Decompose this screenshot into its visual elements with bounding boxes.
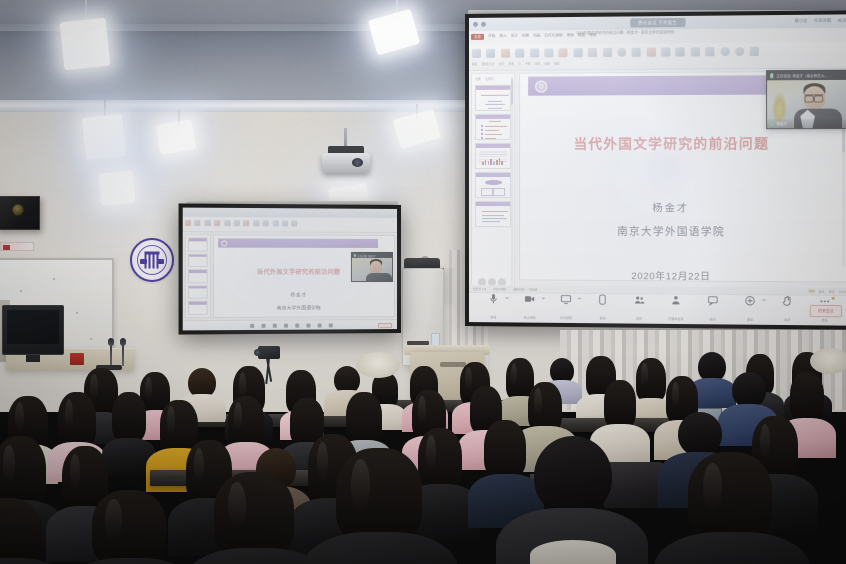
slide-date: 2020年12月22日 [528,267,816,283]
toolbar-mute-button[interactable]: 静音 [482,293,504,323]
designer-icon[interactable] [750,47,759,56]
designer-icon [282,220,288,226]
ribbon-cap-paragraph: 段落 [535,61,540,65]
toolbar-manage-label: 管理参会者 [668,316,683,320]
tab-view[interactable]: 视图 [578,33,585,39]
microphone-icon[interactable] [250,323,254,327]
slide-logo-icon [535,80,547,92]
tab-home[interactable]: 开始 [488,34,495,40]
side-thumb-4[interactable] [188,285,208,299]
layout-icon [204,220,210,226]
titlebar-minimize[interactable]: 最小化 [794,18,807,24]
wall-notice-sign [0,242,34,251]
side-slide-affiliation: 南京大学外国语学院 [218,304,378,312]
ribbon-caption-row: 粘贴 新建幻灯片 版式 重置 节 字体 段落 绘图 编辑 [472,59,846,66]
outline-tab[interactable]: 大纲 [475,77,481,81]
raise-hand-icon [782,295,793,306]
ribbon-cap-font: 字体 [525,62,530,66]
shape-icon [224,220,230,226]
shape-outline-icon[interactable] [661,47,670,56]
end-meeting-button[interactable]: 结束会议 [810,305,843,318]
lecture-hall-scene: 腾讯会议 学术报告 最小化 共享屏幕 关闭 当代外国文学研究的前沿问题 - 杨金… [0,0,846,564]
thumbnail-scrollbar[interactable] [511,77,513,287]
arrange-icon[interactable] [617,48,626,57]
slide-thumbnail-4[interactable] [475,172,511,198]
font-color-icon [214,220,220,226]
meeting-toolbar[interactable]: 静音 停止视频 共享屏幕 [469,292,846,326]
slide-thumbnail-3[interactable] [475,143,511,169]
microphone-stand-2 [122,344,124,366]
dictate-icon[interactable] [735,47,744,56]
side-current-slide: 当代外国文学研究的前沿问题 杨金才 南京大学外国语学院 2020年12月22日 … [213,234,395,318]
ceiling-light-2 [82,114,126,160]
speaker-jacket [366,273,392,282]
fur-hood [356,352,400,378]
lectern-slot [440,362,466,367]
ribbon-cap-paste: 粘贴 [472,62,477,66]
new-slide-icon [195,220,201,226]
status-comments[interactable]: 批注 [829,289,835,293]
teaching-desk-monitor [2,305,64,355]
ceiling-light-3 [98,170,135,205]
microphone-icon [488,293,499,304]
slide-thumbnail-pane[interactable]: 大纲 幻灯片 [471,73,515,291]
tab-insert[interactable]: 插入 [499,34,506,40]
microphone-icon [120,338,126,346]
toolbar-share-button[interactable]: 共享屏幕 [555,293,577,323]
wall-speaker-left [0,196,40,230]
slide-author: 杨金才 [528,199,816,215]
replace-icon[interactable] [705,47,714,56]
thumb-chart-icon [482,158,503,165]
layout-icon[interactable] [515,49,524,58]
toolbar-chat-button[interactable]: 聊天 [702,294,725,325]
ribbon-cap-newslide: 新建幻灯片 [482,62,495,66]
invite-icon [744,295,755,306]
find-icon [263,220,269,226]
thumb-pane-header[interactable]: 大纲 幻灯片 [475,77,511,81]
ribbon-cap-section: 节 [518,62,521,66]
participants-icon [633,294,644,305]
side-meeting-toolbar[interactable] [183,319,397,330]
slide-thumbnail-1[interactable] [475,85,511,111]
titlebar-controls[interactable]: 最小化 共享屏幕 关闭 [794,17,846,24]
side-slide-band [218,238,378,248]
titlebar-dot-icon [481,22,486,27]
side-screen-content: 当代外国文学研究的前沿问题 杨金才 南京大学外国语学院 2020年12月22日 … [183,208,397,331]
toolbar-participants-button[interactable]: 成员 [628,294,650,325]
share-screen-icon [560,293,571,304]
microphone-icon [770,73,773,78]
toolbar-record-label: 录制 [599,316,605,320]
toolbar-chat-label: 聊天 [710,317,716,321]
more-icon[interactable] [328,323,332,327]
toolbar-more-label: 更多 [822,318,828,322]
ribbon-cap-editing: 编辑 [554,61,559,65]
ribbon-cap-reset: 重置 [509,62,514,66]
participants-icon[interactable] [295,323,299,327]
tab-design[interactable]: 设计 [511,34,518,40]
arrange-icon [253,220,259,226]
toolbar-invite-label: 邀请 [747,317,753,321]
side-thumbnail-pane[interactable] [185,234,211,318]
chevron-down-icon[interactable] [505,297,509,299]
quick-styles-icon[interactable] [632,48,641,57]
side-ribbon-icons [185,220,298,227]
pip-speaking-label: 正在讲话: 杨金才（南京师范大... [776,73,827,78]
select-icon [272,220,278,226]
main-screen-content: 腾讯会议 学术报告 最小化 共享屏幕 关闭 当代外国文学研究的前沿问题 - 杨金… [469,14,846,325]
slide-thumbnail-2[interactable] [475,114,511,140]
dictate-icon [291,220,297,226]
university-emblem [130,238,174,282]
status-slide-count: 幻灯片 1/5 [473,287,486,291]
toolbar-manage-button[interactable]: 管理参会者 [665,294,688,325]
main-projection-screen[interactable]: 腾讯会议 学术报告 最小化 共享屏幕 关闭 当代外国文学研究的前沿问题 - 杨金… [465,10,846,330]
side-thumb-1[interactable] [188,237,208,251]
pip-participant-name: 杨金才 [776,121,787,126]
microphone-icon [354,254,356,257]
chevron-down-icon[interactable] [761,299,765,301]
select-icon[interactable] [720,47,729,56]
slides-tab[interactable]: 幻灯片 [486,77,494,81]
ribbon-cap-layout: 版式 [499,62,504,66]
projector-lens-icon [352,158,363,167]
titlebar-share[interactable]: 共享屏幕 [814,18,831,24]
new-slide-icon[interactable] [486,49,495,58]
chevron-down-icon[interactable] [577,297,581,299]
chevron-down-icon[interactable] [541,297,545,299]
tab-animations[interactable]: 动画 [533,33,540,39]
secondary-projection-screen[interactable]: 当代外国文学研究的前沿问题 杨金才 南京大学外国语学院 2020年12月22日 … [179,203,401,334]
ppt-tab-bar[interactable]: 文件 开始 插入 设计 切换 动画 幻灯片放映 审阅 视图 帮助 [471,33,597,40]
slide-affiliation: 南京大学外国语学院 [528,223,816,239]
find-icon[interactable] [691,47,700,56]
desk-red-box [70,353,84,365]
font-color-icon[interactable] [501,49,510,58]
fill-icon [243,220,249,226]
side-thumb-5[interactable] [188,301,208,315]
toolbar-raisehand-button[interactable]: 举手 [776,295,799,326]
camera-lens-icon [254,349,261,356]
side-thumb-2[interactable] [188,253,208,267]
pip-header: 正在讲话: 杨金才（南京师范大... [767,71,846,81]
toolbar-share-label: 共享屏幕 [560,315,572,319]
status-right-group[interactable]: 备注 批注 100% [808,289,846,293]
align-icon [234,220,240,226]
toolbar-mute-label: 静音 [490,315,496,319]
side-pip-video [352,258,392,281]
toolbar-record-button[interactable]: 录制 [591,293,613,323]
camera-icon [524,293,535,304]
paste-icon[interactable] [472,49,481,58]
reset-icon[interactable] [530,48,539,57]
slide-logo-icon [221,240,227,246]
side-pip-label: 正在讲话: 杨金才 [357,253,375,257]
toolbar-participants-label: 成员 [636,316,642,320]
side-end-meeting-button[interactable] [378,323,392,328]
text-box-icon[interactable] [559,48,568,57]
pip-footer: 杨金才 [767,119,846,128]
slide-thumbnail-5[interactable] [475,201,511,227]
microphone-stand-1 [110,344,112,366]
meeting-title: 腾讯会议 学术报告 [630,18,685,27]
chat-icon [707,294,718,305]
toolbar-video-button[interactable]: 停止视频 [519,293,541,323]
microphone-icon [770,121,773,126]
record-icon[interactable] [283,323,287,327]
ppt-document-title: 当代外国文学研究的前沿问题 - 杨金才 - 南京大学外国语学院 [576,30,740,37]
side-ribbon [183,217,397,233]
camera-icon[interactable] [261,323,265,327]
section-icon[interactable] [544,48,553,57]
status-zoom-level[interactable]: 100% [839,289,846,293]
share-screen-icon[interactable] [272,323,276,327]
notification-badge-icon [831,296,834,299]
chat-icon[interactable] [306,323,310,327]
ceiling-light-4 [156,119,197,155]
tripod-video-camera [258,346,280,359]
tab-file[interactable]: 文件 [471,34,484,40]
tab-slideshow[interactable]: 幻灯片放映 [544,33,562,39]
shape-icon[interactable] [588,48,597,57]
side-thumb-3[interactable] [188,269,208,283]
microphone-icon [108,338,114,346]
shape-fill-icon[interactable] [646,48,655,57]
video-pip-panel[interactable]: 正在讲话: 杨金才（南京师范大... 杨金才 [766,70,846,130]
tab-transitions[interactable]: 切换 [522,33,529,39]
toolbar-invite-button[interactable]: 邀请 [739,295,762,326]
align-icon[interactable] [602,48,611,57]
side-slide-author: 杨金才 [218,292,378,299]
slide-title: 当代外国文学研究的前沿问题 [528,132,816,153]
tab-help[interactable]: 帮助 [589,33,596,39]
status-accessibility: 辅助功能: 一切就绪 [513,287,537,291]
side-workspace: 当代外国文学研究的前沿问题 杨金才 南京大学外国语学院 2020年12月22日 … [183,232,397,320]
status-chip-icon [808,289,814,293]
glasses-icon [805,94,824,99]
monitor-stand [26,355,40,362]
speaker-cone-icon [13,205,24,216]
titlebar-close[interactable]: 关闭 [837,17,846,23]
chair-back [604,462,664,508]
toolbar-video-label: 停止视频 [524,315,536,319]
invite-icon[interactable] [317,323,321,327]
ribbon-cap-drawing: 绘图 [545,61,550,65]
fur-hood [810,348,846,374]
status-language: 中文(中国) [493,287,506,291]
fill-icon[interactable] [573,48,582,57]
manage-participants-icon [670,294,681,305]
toolbar-raisehand-label: 举手 [784,317,790,321]
record-icon [597,294,608,305]
background-plant [771,90,788,121]
ceiling-light-1 [60,18,111,71]
ribbon-icon-row [472,46,846,58]
ppt-ribbon[interactable]: 粘贴 新建幻灯片 版式 重置 节 字体 段落 绘图 编辑 [469,42,846,71]
tab-review[interactable]: 审阅 [567,33,574,39]
side-video-pip[interactable]: 正在讲话: 杨金才 [351,252,393,282]
status-notes[interactable]: 备注 [819,289,825,293]
paste-icon [185,220,191,226]
titlebar-dot-icon [473,22,478,27]
shape-effects-icon[interactable] [676,47,685,56]
